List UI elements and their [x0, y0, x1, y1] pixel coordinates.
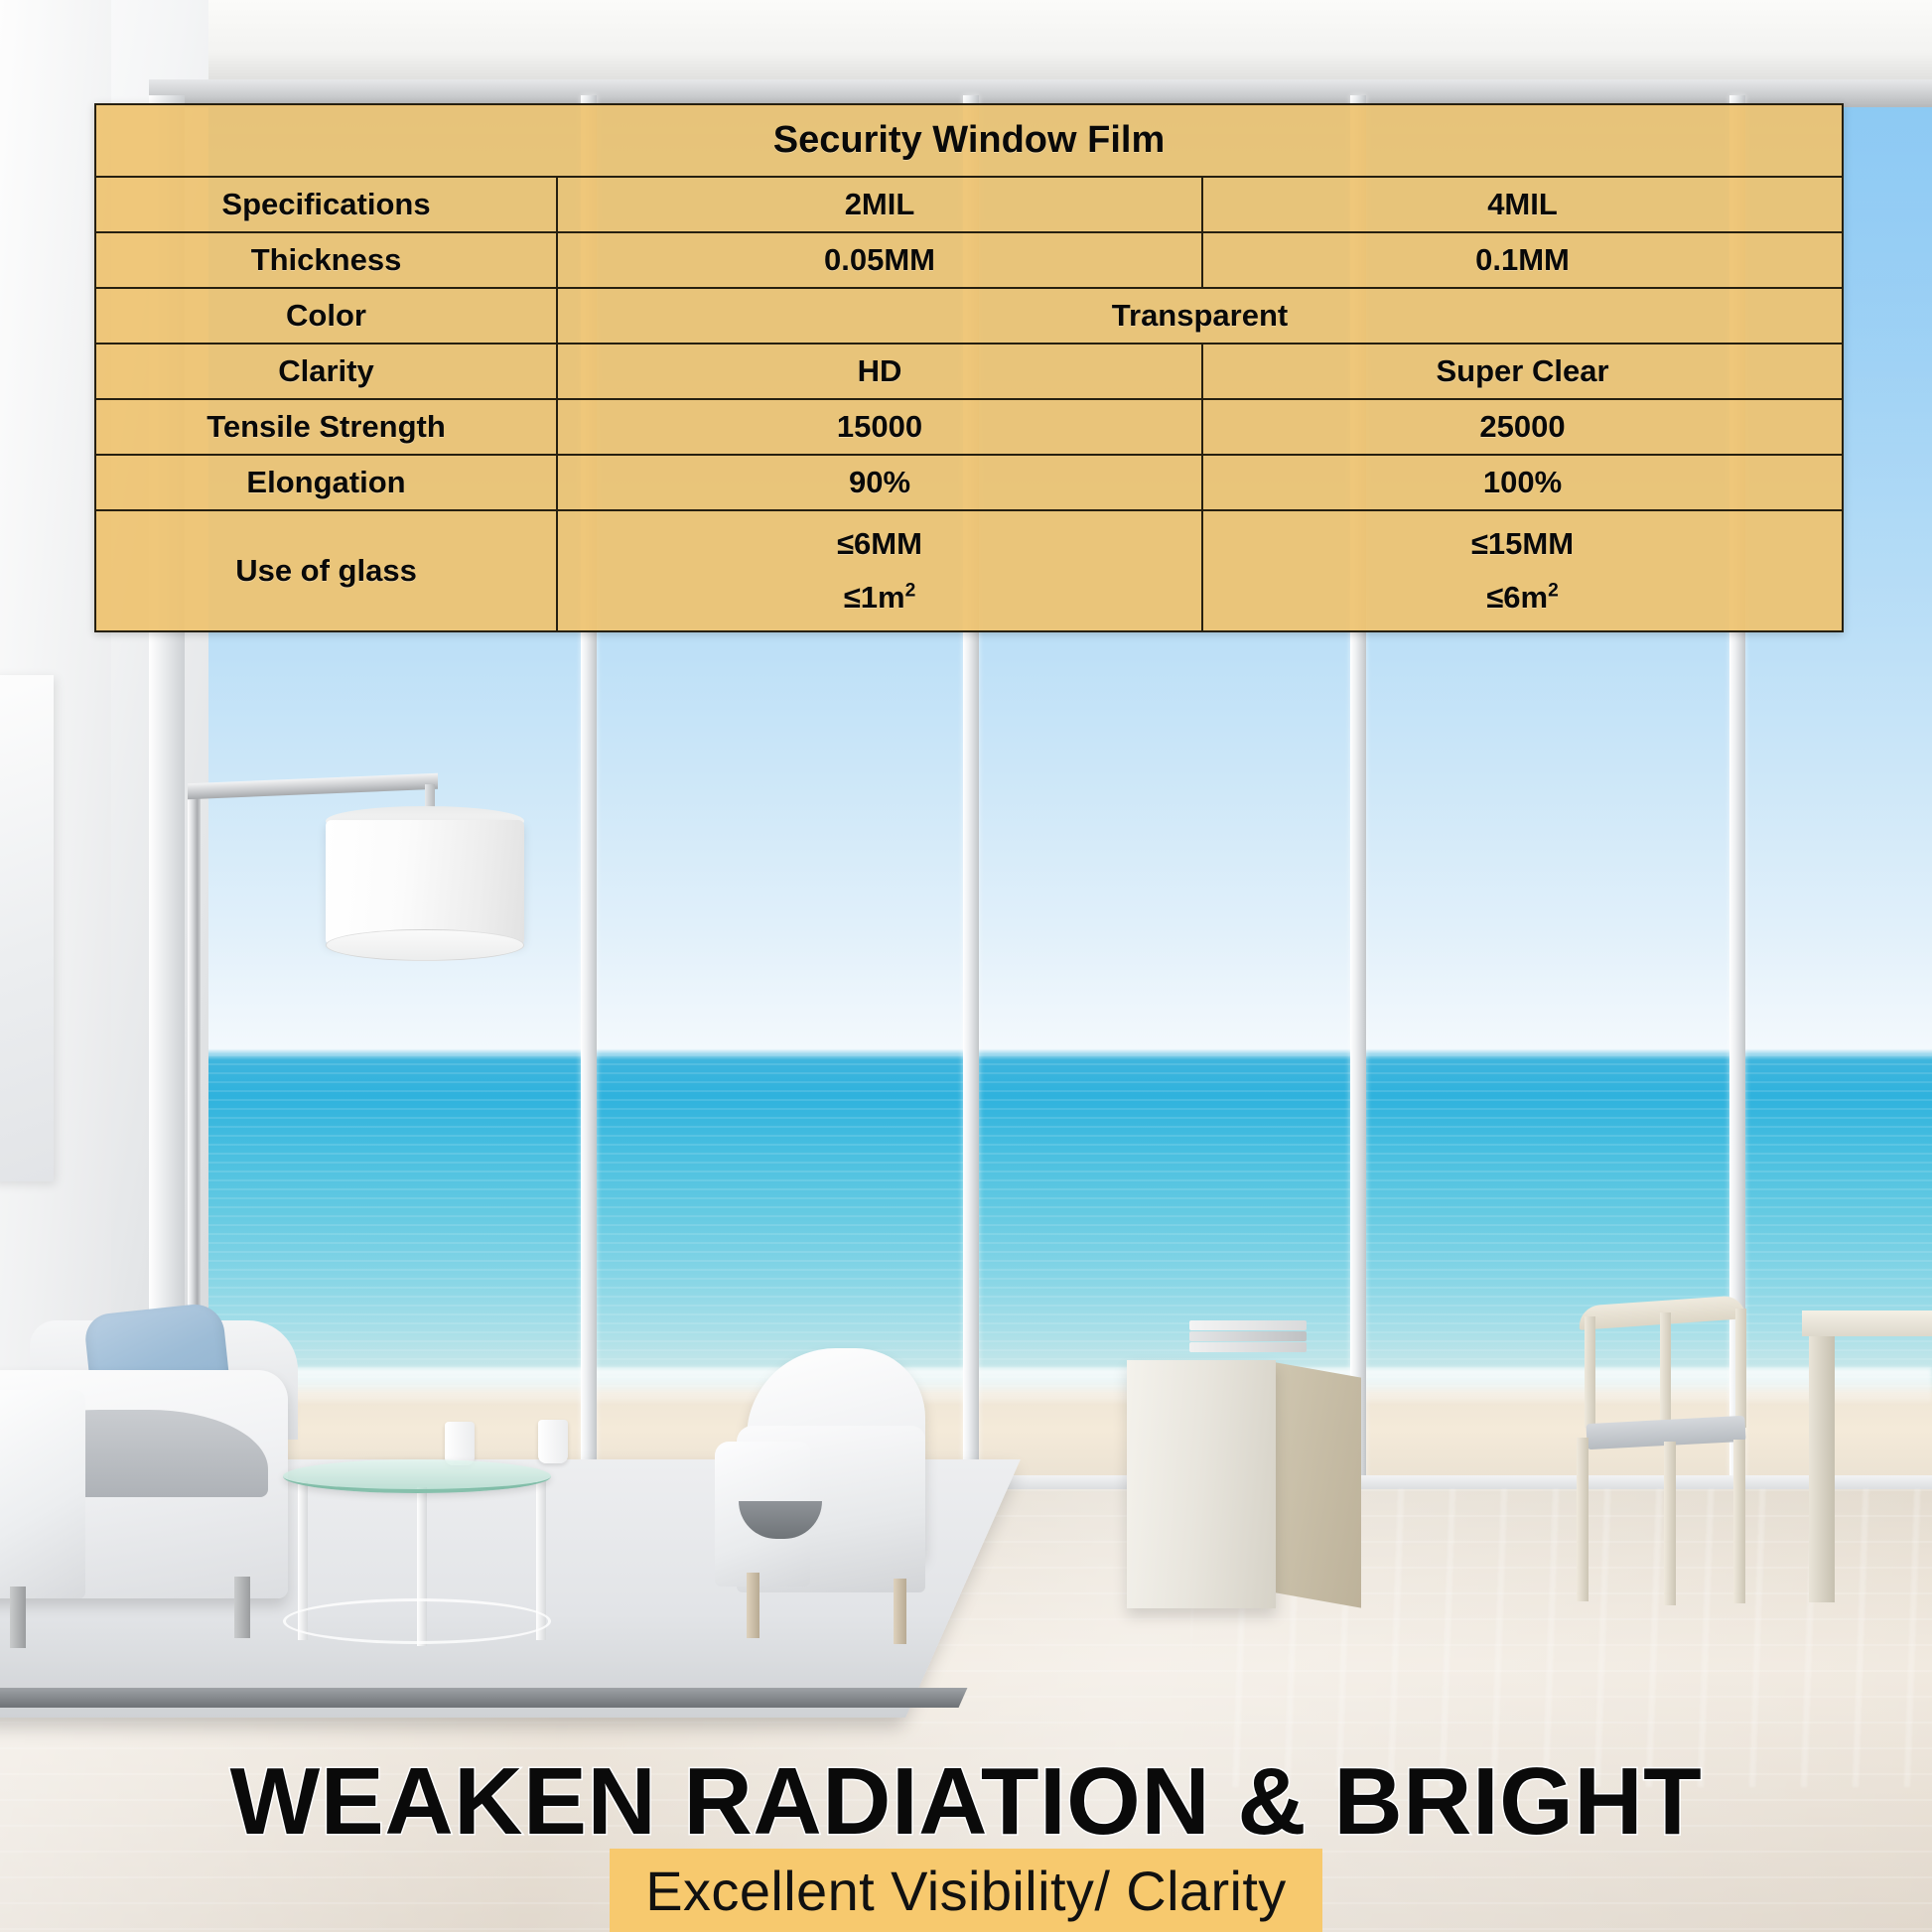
table-row: Color Transparent [95, 288, 1843, 344]
table-title: Security Window Film [95, 104, 1843, 177]
dining-table-top [1802, 1311, 1932, 1336]
table-row: Specifications 2MIL 4MIL [95, 177, 1843, 232]
table-row: Thickness 0.05MM 0.1MM [95, 232, 1843, 288]
dining-table-leg [1809, 1336, 1835, 1602]
side-table-side-panel [1276, 1362, 1361, 1607]
marketing-headline: WEAKEN RADIATION & BRIGHT [0, 1747, 1932, 1857]
use-of-glass-2mil-thickness: ≤6MM [837, 526, 922, 561]
dining-chair-post-left [1585, 1316, 1595, 1428]
wall-art-panel [0, 675, 54, 1181]
cell-tensile-2mil: 15000 [557, 399, 1202, 455]
dining-chair-post-center [1660, 1312, 1671, 1424]
sofa-armrest [0, 1390, 85, 1598]
cell-thickness-2mil: 0.05MM [557, 232, 1202, 288]
use-of-glass-2mil-area: ≤1m2 [564, 574, 1195, 621]
glass-coffee-table-top [283, 1459, 551, 1493]
book-stack [1189, 1320, 1307, 1360]
use-of-glass-4mil-area: ≤6m2 [1209, 574, 1836, 621]
row-label-clarity: Clarity [95, 344, 557, 399]
use-of-glass-2mil-area-exponent: 2 [905, 581, 916, 602]
cell-clarity-4mil: Super Clear [1202, 344, 1843, 399]
table-row-title: Security Window Film [95, 104, 1843, 177]
use-of-glass-4mil-thickness: ≤15MM [1471, 526, 1574, 561]
book-top [1189, 1320, 1307, 1330]
marketing-subline-container: Excellent Visibility/ Clarity [0, 1849, 1932, 1932]
table-row: Tensile Strength 15000 25000 [95, 399, 1843, 455]
sofa-leg-back [234, 1577, 250, 1638]
cell-color-both: Transparent [557, 288, 1843, 344]
use-of-glass-4mil-area-value: ≤6m [1486, 580, 1548, 615]
dining-chair-leg-3 [1733, 1440, 1745, 1603]
armchair-leg-right [894, 1579, 906, 1644]
lamp-shade-bottom [326, 929, 524, 961]
row-label-specifications: Specifications [95, 177, 557, 232]
table-row: Clarity HD Super Clear [95, 344, 1843, 399]
row-label-thickness: Thickness [95, 232, 557, 288]
coffee-mug-right [538, 1420, 568, 1463]
cell-elongation-4mil: 100% [1202, 455, 1843, 510]
marketing-subline: Excellent Visibility/ Clarity [610, 1849, 1321, 1932]
cell-elongation-2mil: 90% [557, 455, 1202, 510]
cell-tensile-4mil: 25000 [1202, 399, 1843, 455]
armchair-leg-left [747, 1573, 759, 1638]
area-rug-edge [0, 1688, 967, 1708]
dining-chair-post-right [1735, 1309, 1746, 1428]
cell-specifications-4mil: 4MIL [1202, 177, 1843, 232]
sea-waves [208, 1054, 1932, 1388]
product-marketing-image: Security Window Film Specifications 2MIL… [0, 0, 1932, 1932]
dining-chair-leg-1 [1577, 1438, 1588, 1601]
row-label-use-of-glass: Use of glass [95, 510, 557, 631]
cell-specifications-2mil: 2MIL [557, 177, 1202, 232]
book-bottom [1189, 1342, 1307, 1352]
use-of-glass-4mil-area-exponent: 2 [1548, 581, 1559, 602]
c-side-table [1127, 1360, 1276, 1608]
cell-use-of-glass-2mil: ≤6MM ≤1m2 [557, 510, 1202, 631]
coffee-table-base-ring [283, 1598, 551, 1644]
cell-thickness-4mil: 0.1MM [1202, 232, 1843, 288]
specification-table: Security Window Film Specifications 2MIL… [94, 103, 1844, 632]
row-label-tensile-strength: Tensile Strength [95, 399, 557, 455]
book-middle [1189, 1331, 1307, 1341]
lamp-shade [326, 820, 524, 945]
shoreline-surf [208, 1368, 1932, 1402]
cell-use-of-glass-4mil: ≤15MM ≤6m2 [1202, 510, 1843, 631]
row-label-elongation: Elongation [95, 455, 557, 510]
dining-chair-leg-2 [1664, 1442, 1676, 1605]
cell-clarity-2mil: HD [557, 344, 1202, 399]
table-row: Use of glass ≤6MM ≤1m2 ≤15MM ≤6m2 [95, 510, 1843, 631]
use-of-glass-2mil-area-value: ≤1m [844, 580, 905, 615]
coffee-mug-left [445, 1422, 475, 1465]
sofa-leg-front [10, 1587, 26, 1648]
table-row: Elongation 90% 100% [95, 455, 1843, 510]
row-label-color: Color [95, 288, 557, 344]
